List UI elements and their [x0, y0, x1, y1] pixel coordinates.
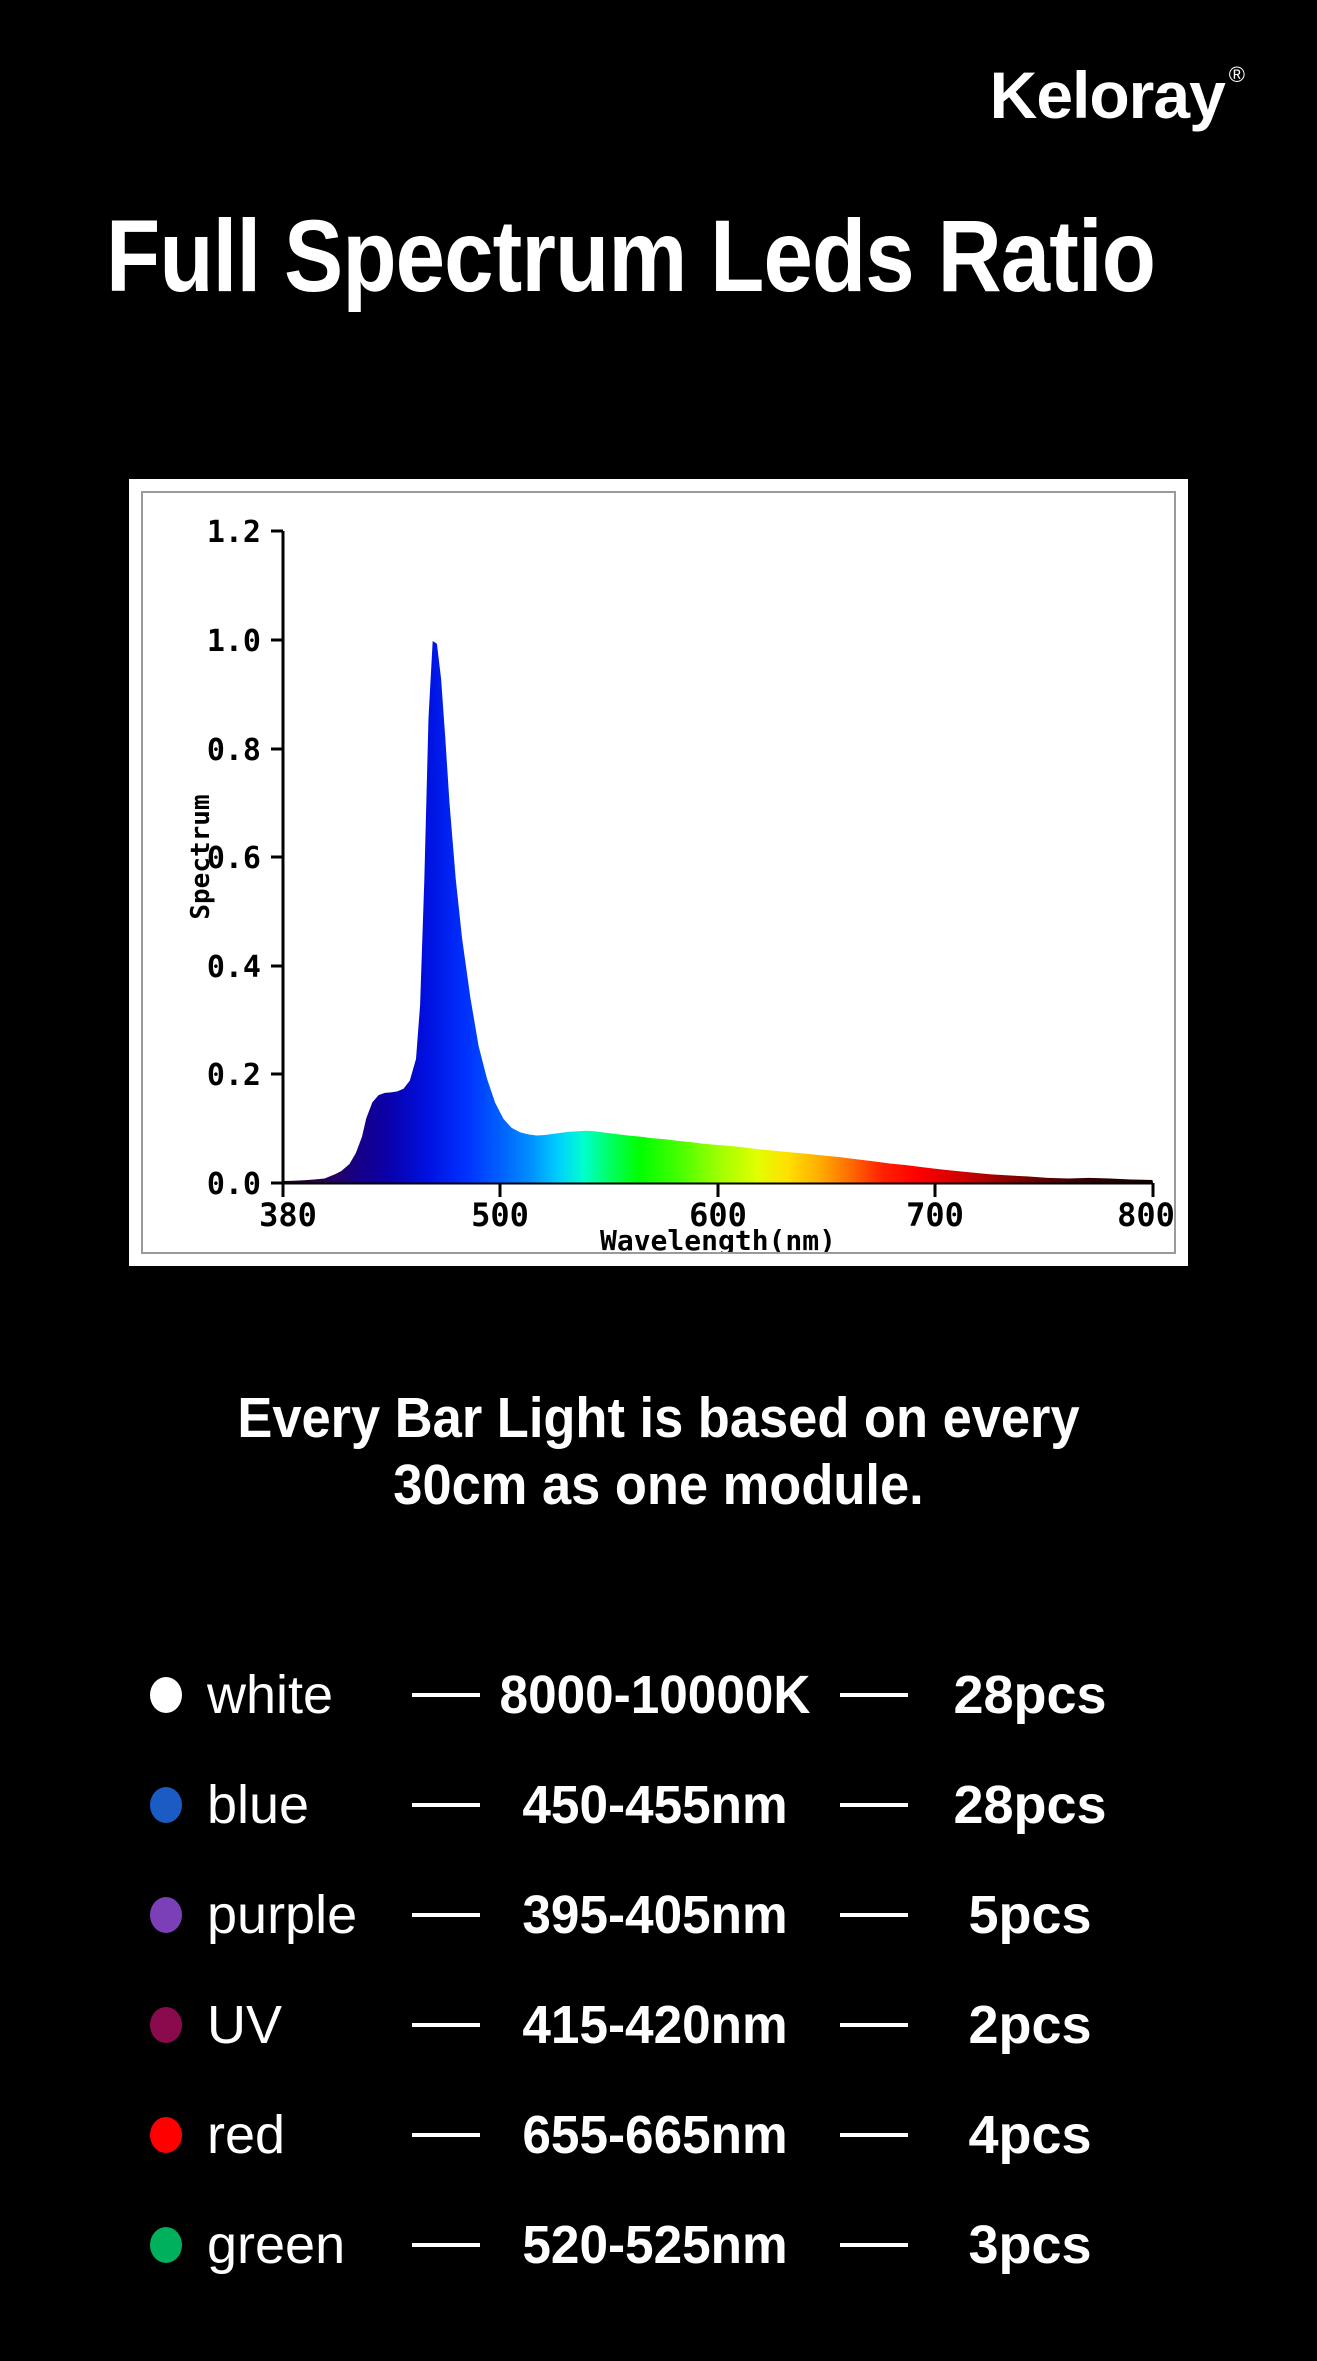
led-name: blue	[207, 1778, 412, 1832]
led-quantity: 2pcs	[940, 1998, 1120, 2052]
led-name: green	[207, 2218, 412, 2272]
separator-dash	[840, 2133, 908, 2137]
red-dot-icon	[150, 2117, 182, 2153]
brand-logo: Keloray ®	[990, 62, 1245, 128]
led-spec: 8000-10000K	[489, 1668, 822, 1722]
module-note-line-1: Every Bar Light is based on every	[53, 1385, 1265, 1452]
registered-trademark-icon: ®	[1229, 64, 1245, 86]
legend-row-white: white 8000-10000K 28pcs	[0, 1640, 1317, 1750]
led-ratio-legend: white 8000-10000K 28pcs blue 450-455nm 2…	[0, 1640, 1317, 2300]
led-spec: 450-455nm	[489, 1778, 822, 1832]
legend-row-purple: purple 395-405nm 5pcs	[0, 1860, 1317, 1970]
x-tick-label: 700	[906, 1196, 964, 1234]
x-tick-label: 500	[471, 1196, 529, 1234]
y-tick-label: 0.8	[207, 733, 261, 768]
spectrum-chart-frame: 1.2 1.0 0.8 0.6 0.4 0.2 0.0 380 500 600 …	[141, 491, 1176, 1254]
spectrum-chart-svg: 1.2 1.0 0.8 0.6 0.4 0.2 0.0 380 500 600 …	[143, 493, 1174, 1252]
led-quantity: 28pcs	[940, 1668, 1120, 1722]
led-quantity: 4pcs	[940, 2108, 1120, 2162]
led-name: red	[207, 2108, 412, 2162]
legend-row-uv: UV 415-420nm 2pcs	[0, 1970, 1317, 2080]
led-name: UV	[207, 1998, 412, 2052]
led-spec: 520-525nm	[489, 2218, 822, 2272]
separator-dash	[412, 1803, 480, 1807]
separator-dash	[412, 2243, 480, 2247]
led-spec: 395-405nm	[489, 1888, 822, 1942]
spectrum-curve	[283, 641, 1153, 1183]
purple-dot-icon	[150, 1897, 182, 1933]
y-tick-label: 0.4	[207, 950, 261, 985]
separator-dash	[840, 1803, 908, 1807]
led-spec: 415-420nm	[489, 1998, 822, 2052]
y-tick-label: 0.0	[207, 1167, 261, 1202]
y-tick-label: 0.2	[207, 1058, 261, 1093]
separator-dash	[840, 2023, 908, 2027]
legend-row-green: green 520-525nm 3pcs	[0, 2190, 1317, 2300]
led-quantity: 28pcs	[940, 1778, 1120, 1832]
uv-dot-icon	[150, 2007, 182, 2043]
brand-name: Keloray	[990, 62, 1225, 128]
legend-row-blue: blue 450-455nm 28pcs	[0, 1750, 1317, 1860]
led-name: white	[207, 1668, 412, 1722]
separator-dash	[412, 2133, 480, 2137]
x-tick-label: 800	[1117, 1196, 1174, 1234]
spectrum-chart-panel: 1.2 1.0 0.8 0.6 0.4 0.2 0.0 380 500 600 …	[129, 479, 1188, 1266]
separator-dash	[412, 2023, 480, 2027]
separator-dash	[840, 1913, 908, 1917]
separator-dash	[412, 1693, 480, 1697]
module-note-line-2: 30cm as one module.	[53, 1452, 1265, 1519]
y-tick-label: 1.0	[207, 624, 261, 659]
white-dot-icon	[150, 1677, 182, 1713]
led-name: purple	[207, 1888, 412, 1942]
led-spec: 655-665nm	[489, 2108, 822, 2162]
separator-dash	[840, 2243, 908, 2247]
separator-dash	[840, 1693, 908, 1697]
blue-dot-icon	[150, 1787, 182, 1823]
y-tick-label: 1.2	[207, 515, 261, 550]
green-dot-icon	[150, 2227, 182, 2263]
led-quantity: 5pcs	[940, 1888, 1120, 1942]
separator-dash	[412, 1913, 480, 1917]
legend-row-red: red 655-665nm 4pcs	[0, 2080, 1317, 2190]
x-tick-label: 380	[259, 1196, 317, 1234]
chart-y-axis-label: Spectrum	[186, 794, 216, 919]
chart-x-axis-label: Wavelength(nm)	[600, 1224, 836, 1252]
led-quantity: 3pcs	[940, 2218, 1120, 2272]
page-title: Full Spectrum Leds Ratio	[106, 205, 1155, 307]
module-note: Every Bar Light is based on every 30cm a…	[0, 1385, 1317, 1520]
